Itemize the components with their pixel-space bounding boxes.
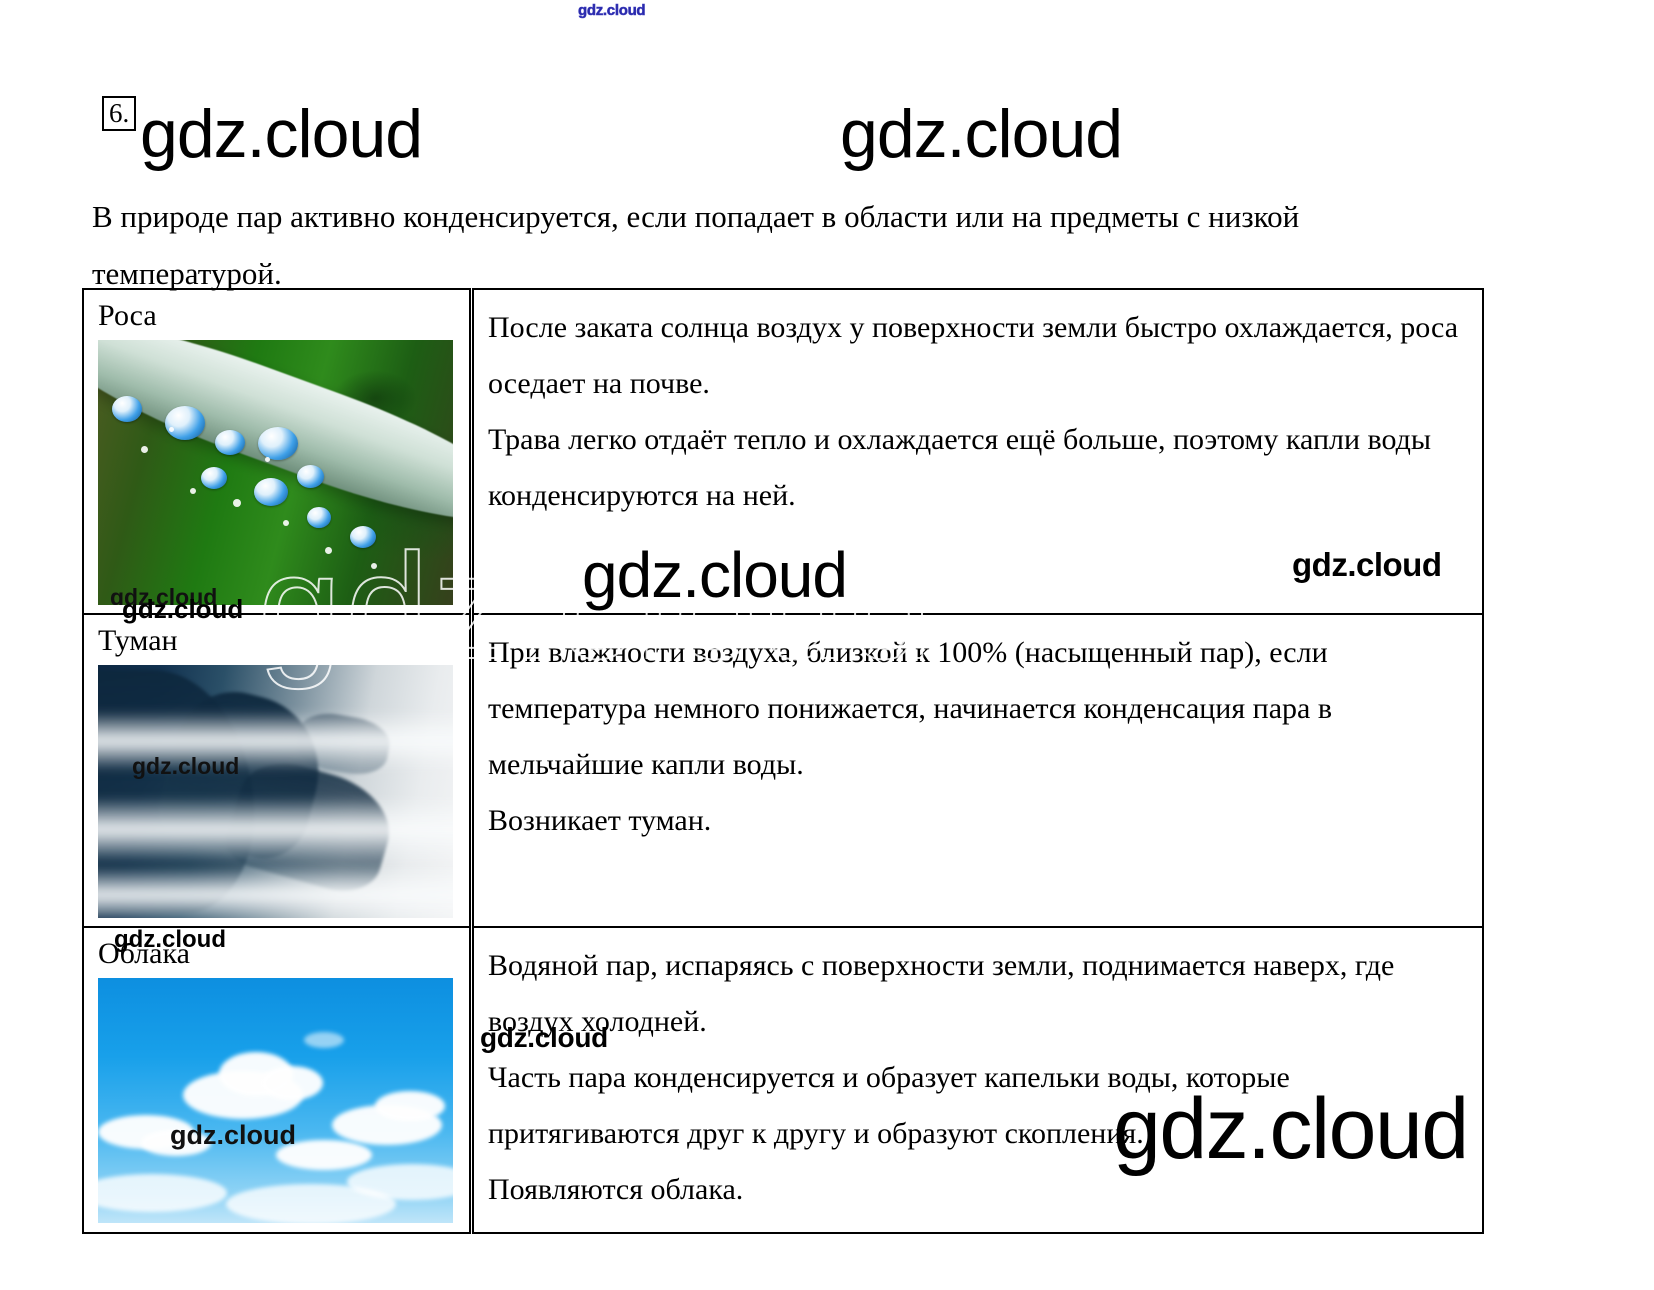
row-label-fog: Туман: [98, 621, 469, 661]
sparkle-dot: [265, 457, 270, 462]
table-row: Роса: [83, 289, 1483, 614]
water-drop-icon: [201, 467, 227, 489]
watermark-header-right: gdz.cloud: [840, 95, 1122, 173]
task-number: 6.: [102, 96, 136, 131]
row-label-clouds: Облака: [98, 934, 469, 974]
water-drop-icon: [112, 396, 142, 422]
watermark-dew-image: gdz.cloud: [110, 584, 217, 605]
table-cell-description: Водяной пар, испаряясь с поверхности зем…: [472, 927, 1484, 1233]
table-cell-phenomenon: Роса: [83, 289, 472, 614]
sparkle-dot: [233, 499, 241, 507]
water-drop-icon: [307, 507, 331, 528]
dew-drops-on-grass-photo: gdz.cloud: [98, 340, 453, 605]
table-cell-phenomenon: Туман gdz.cloud gdz.cloud: [83, 614, 472, 927]
description-line: Водяной пар, испаряясь с поверхности зем…: [488, 938, 1468, 1050]
table-cell-phenomenon: Облака gdz.cloud: [83, 927, 472, 1233]
watermark-sky-image: gdz.cloud: [170, 1120, 296, 1151]
sparkle-dot: [325, 547, 332, 554]
clouds-in-blue-sky-photo: gdz.cloud: [98, 978, 453, 1223]
cloud-shape: [98, 1174, 227, 1212]
table-row: Облака gdz.cloud: [83, 927, 1483, 1233]
description-line: Часть пара конденсируется и образует кап…: [488, 1050, 1468, 1162]
sparkle-dot: [371, 563, 377, 569]
cloud-shape: [375, 1091, 445, 1121]
description-line: Возникает туман.: [488, 793, 1468, 849]
mist-band-shape: [98, 867, 453, 918]
fog-over-forest-photo: gdz.cloud: [98, 665, 453, 918]
watermark-top-tiny: gdz.cloud: [578, 2, 645, 19]
description-line: При влажности воздуха, близкой к 100% (н…: [488, 625, 1468, 793]
table-cell-description: При влажности воздуха, близкой к 100% (н…: [472, 614, 1484, 927]
description-line: Трава легко отдаёт тепло и охлаждается е…: [488, 412, 1468, 524]
description-line: Появляются облака.: [488, 1162, 1468, 1218]
cloud-shape: [304, 1032, 344, 1048]
description-line: После заката солнца воздух у поверхности…: [488, 300, 1468, 412]
mist-band-shape: [98, 797, 453, 863]
table-cell-description: После заката солнца воздух у поверхности…: [472, 289, 1484, 614]
water-drop-icon: [254, 478, 288, 506]
condensation-table: Роса: [82, 288, 1484, 1234]
intro-paragraph: В природе пар активно конденсируется, ес…: [92, 188, 1452, 302]
watermark-fog-image-inner: gdz.cloud: [132, 753, 239, 780]
cloud-shape: [261, 1066, 323, 1100]
sparkle-dot: [283, 520, 289, 526]
sparkle-dot: [190, 488, 196, 494]
row-label-dew: Роса: [98, 296, 469, 336]
table-row: Туман gdz.cloud gdz.cloud: [83, 614, 1483, 927]
water-drop-icon: [297, 465, 324, 488]
sparkle-dot: [141, 446, 148, 453]
watermark-header-left: gdz.cloud: [140, 95, 422, 173]
water-drop-icon: [350, 526, 376, 548]
